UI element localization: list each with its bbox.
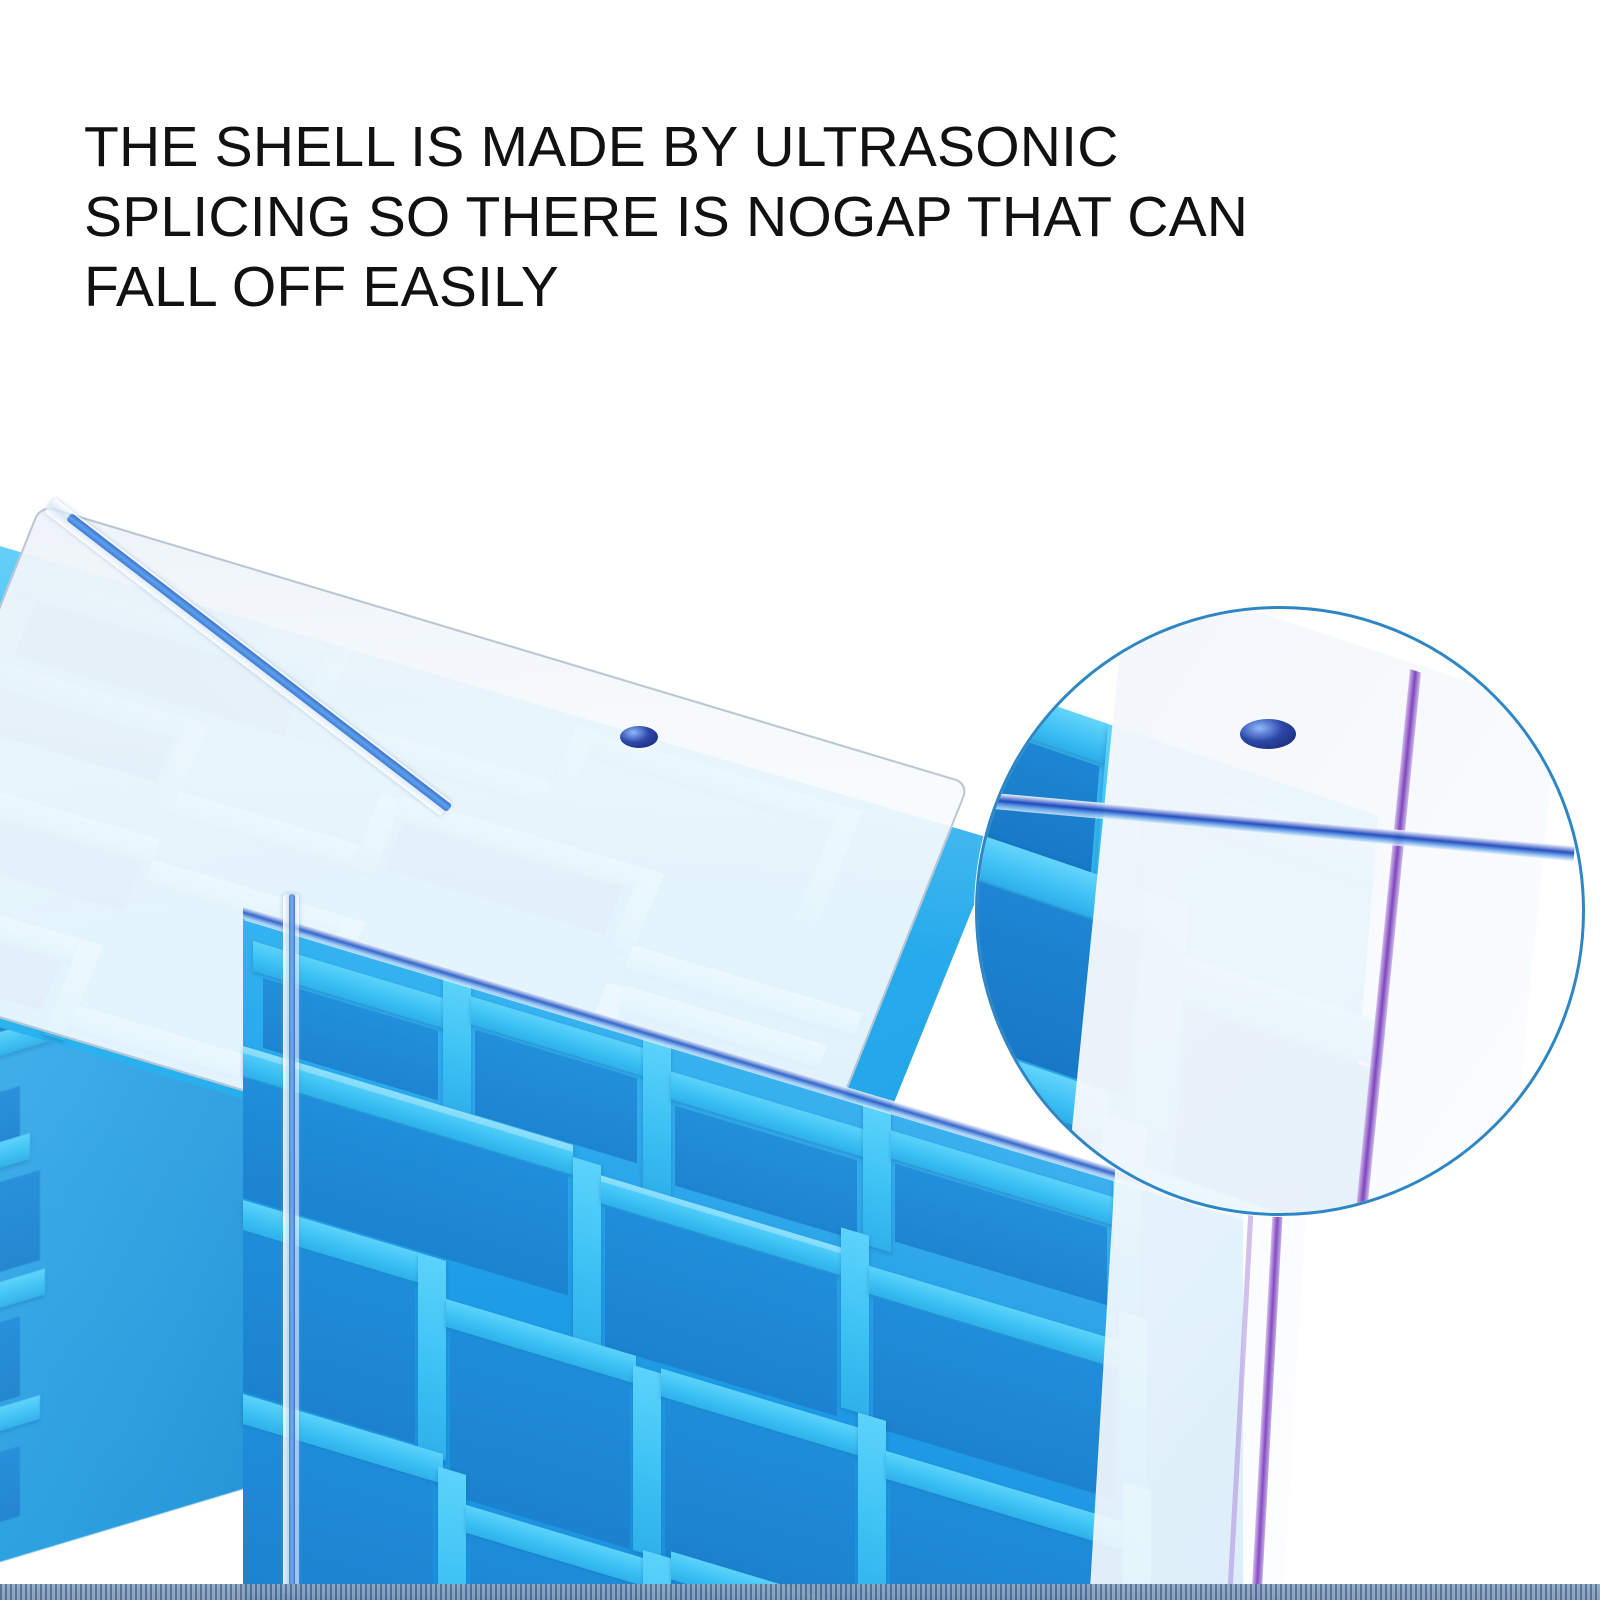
magnified-edge-fringe <box>1348 669 1421 1216</box>
cube-left-face <box>0 649 310 1600</box>
magnifier-callout <box>975 606 1585 1216</box>
magnified-maze <box>975 639 1378 1216</box>
shell-seam-vertical <box>289 894 295 1594</box>
magnified-weld-seam <box>975 777 1575 862</box>
headline-text: THE SHELL IS MADE BY ULTRASONIC SPLICING… <box>84 112 1344 322</box>
shell-seam-top-left <box>66 513 452 812</box>
weld-rivet-top <box>620 726 658 748</box>
surface-shadow-strip <box>0 1584 1600 1600</box>
clear-acrylic-lid <box>0 504 970 1253</box>
magnifier-content <box>978 609 1582 1213</box>
product-photo <box>0 486 1600 1600</box>
shell-edge-top-left <box>44 498 452 817</box>
shell-edge-vertical <box>283 894 299 1594</box>
weld-rivet-magnified <box>1240 719 1296 749</box>
magnified-clear-shell <box>1058 606 1558 1216</box>
product-feature-image: THE SHELL IS MADE BY ULTRASONIC SPLICING… <box>0 0 1600 1600</box>
cube-top-face <box>0 546 1000 1271</box>
